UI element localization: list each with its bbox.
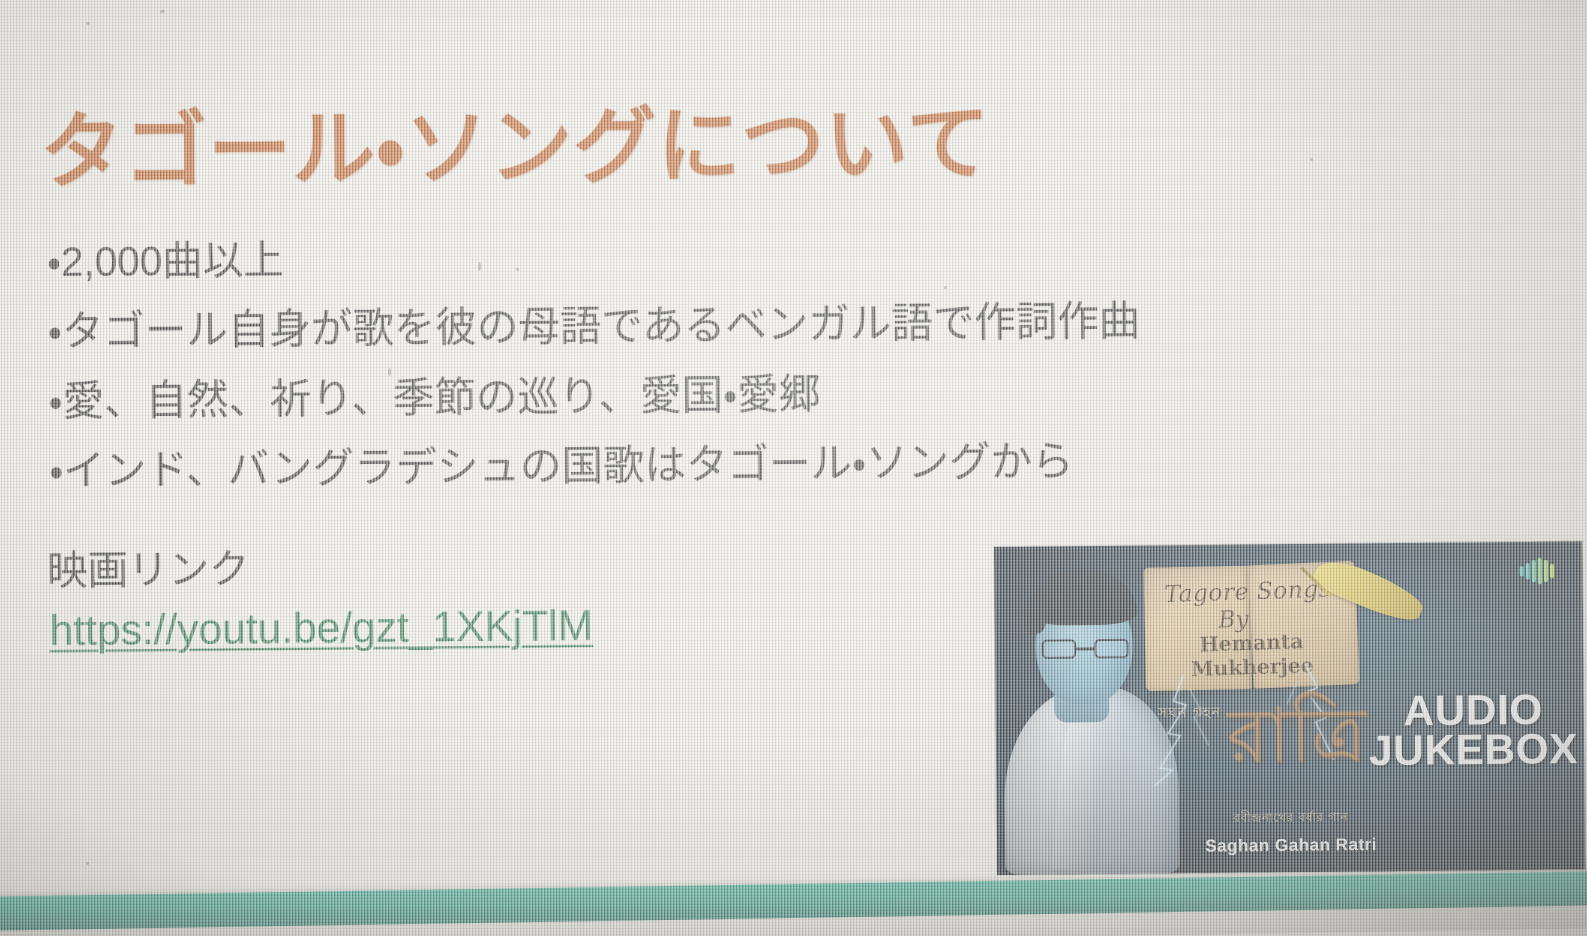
movie-link-label: 映画リンク [47,536,250,597]
projection-screen-photo: タゴール・ソングについて ・2,000曲以上 ・タゴール自身が歌を彼の母語である… [0,0,1587,936]
dust-speck [388,368,391,376]
page-title: タゴール・ソングについて [39,75,991,205]
audio-jukebox-label: AUDIO JUKEBOX [1368,689,1578,771]
logo-bar [1532,560,1536,582]
dust-speck [86,862,89,865]
logo-bar [1520,566,1524,576]
dust-speck [478,262,481,271]
list-item: ・インド、バングラデシュの国歌はタゴール・ソングから [49,440,1183,492]
logo-bar [1550,564,1554,578]
slide-surface: タゴール・ソングについて ・2,000曲以上 ・タゴール自身が歌を彼の母語である… [0,0,1587,936]
logo-bar [1544,560,1548,582]
dust-speck [516,268,519,271]
bullet-list: ・2,000曲以上 ・タゴール自身が歌を彼の母語であるベンガル語で作詞作曲 ・愛… [47,232,1183,521]
video-thumbnail[interactable]: Tagore Songs By Hemanta Mukherjee সঘন গহ… [994,541,1585,875]
list-item: ・タゴール自身が歌を彼の母語であるベンガル語で作詞作曲 [48,300,1182,352]
bengali-subtitle: সঘন গহন [1158,701,1222,726]
channel-logo-icon [1505,556,1568,587]
bengali-title: রাত্রি [1226,697,1366,773]
jukebox-line-2: JUKEBOX [1369,729,1578,771]
list-item: ・2,000曲以上 [47,232,1181,283]
list-item: ・愛、自然、祈り、季節の巡り、愛国・愛郷 [48,370,1182,422]
dust-speck [160,10,165,13]
lightning-icon [1149,674,1221,791]
youtube-link[interactable]: https://youtu.be/gzt_1XKjTlM [49,601,593,655]
dust-speck [1310,158,1313,161]
logo-bar [1526,563,1530,579]
logo-bar [1538,558,1542,584]
dust-speck [944,286,947,289]
dust-speck [86,22,90,25]
